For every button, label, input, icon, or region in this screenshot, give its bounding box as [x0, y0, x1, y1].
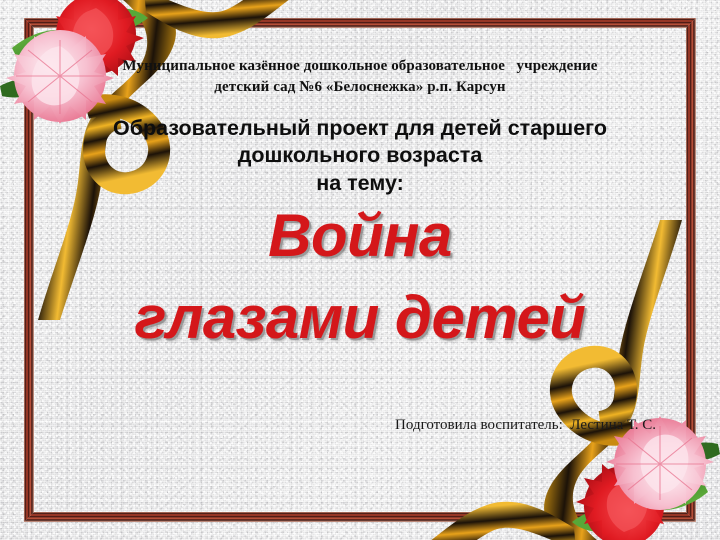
project-line-1: Образовательный проект для детей старшег… [0, 115, 720, 142]
organization-heading: Муниципальное казённое дошкольное образо… [0, 56, 720, 99]
project-line-3: на тему: [0, 170, 720, 197]
page-title: Война глазами детей [0, 206, 720, 348]
organization-line-1: Муниципальное казённое дошкольное образо… [0, 56, 720, 77]
slide-content: Муниципальное казённое дошкольное образо… [0, 0, 720, 540]
project-subtitle: Образовательный проект для детей старшег… [0, 115, 720, 197]
title-line-1: Война [0, 206, 720, 266]
author-credit: Подготовила воспитатель: Лестина Т. С. [0, 417, 656, 434]
project-line-2: дошкольного возраста [0, 142, 720, 169]
organization-line-2: детский сад №6 «Белоснежка» р.п. Карсун [0, 77, 720, 98]
presentation-slide: Муниципальное казённое дошкольное образо… [0, 0, 720, 540]
title-line-2: глазами детей [0, 288, 720, 348]
